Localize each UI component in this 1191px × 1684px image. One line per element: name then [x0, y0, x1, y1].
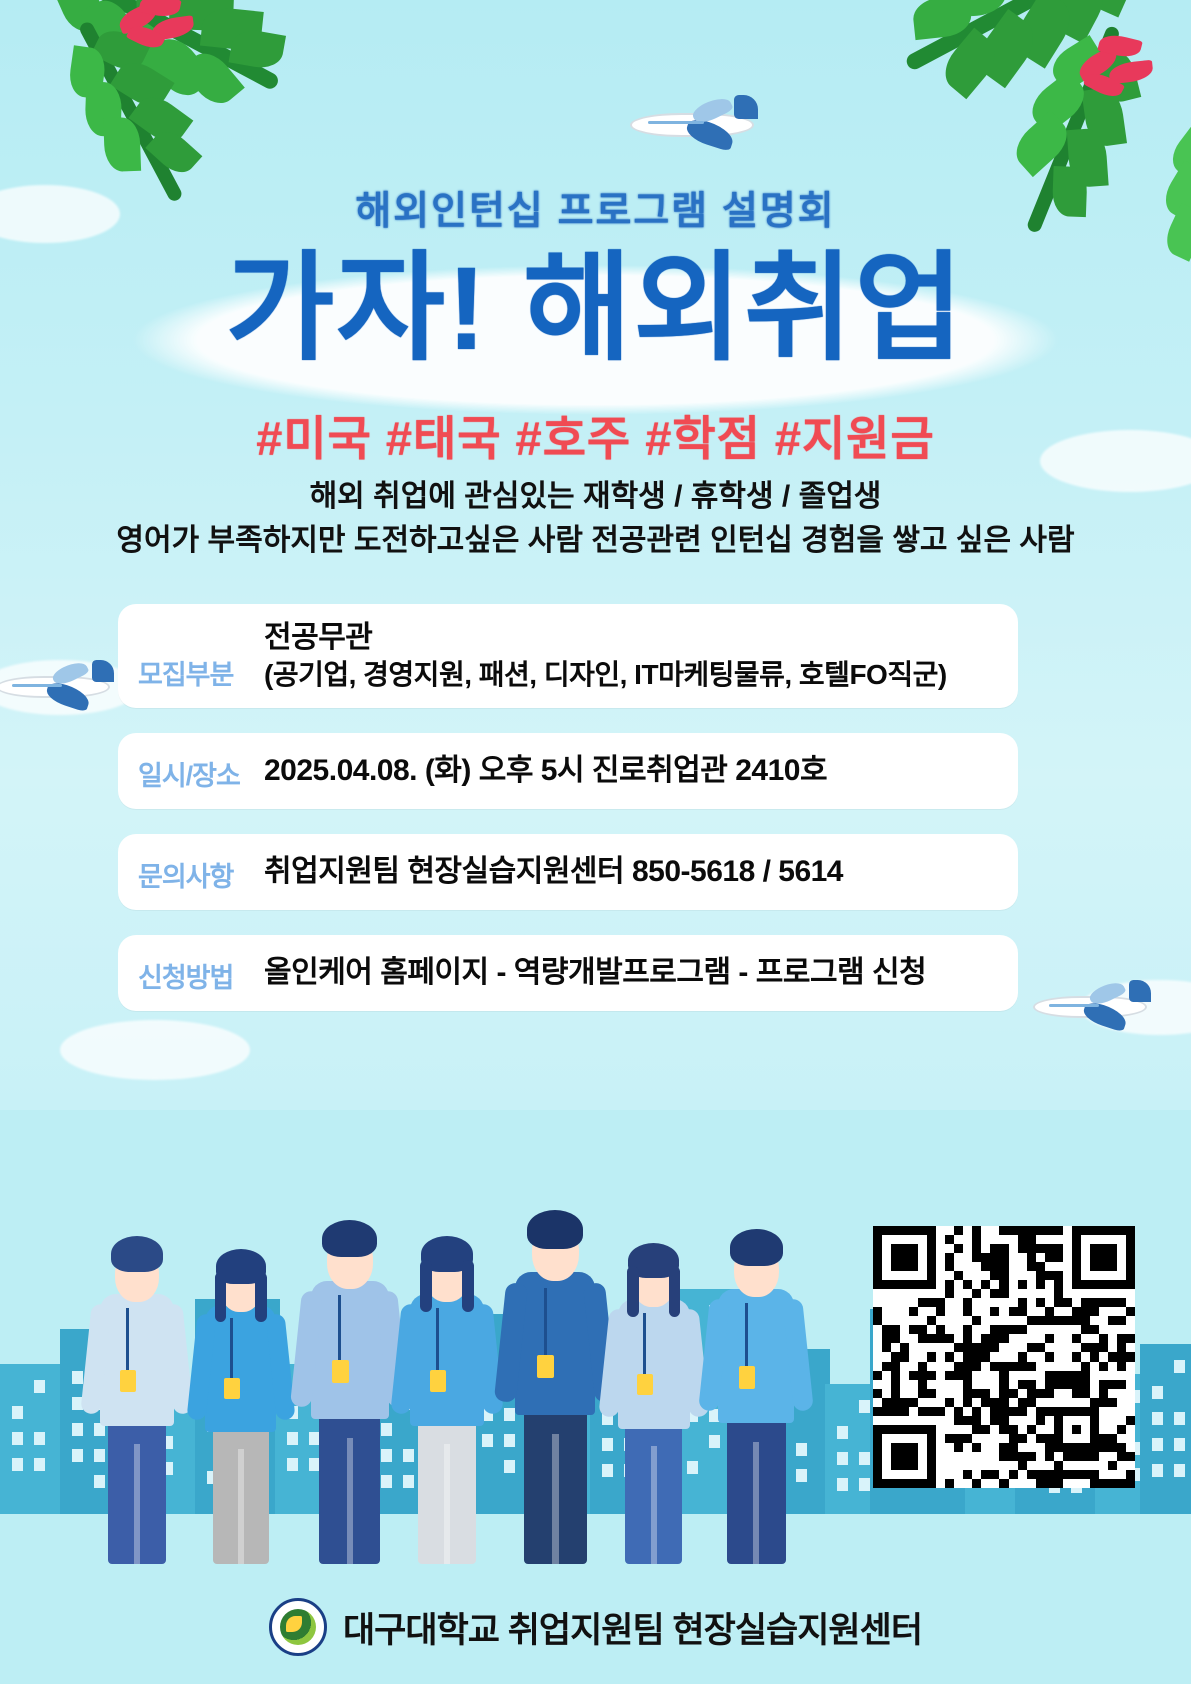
info-card-value: 취업지원팀 현장실습지원센터 850-5618 / 5614 [264, 853, 996, 891]
poster-headline: 가자! 해외취업 [0, 248, 1191, 372]
info-card-label: 문의사항 [138, 855, 264, 894]
person-illustration [188, 1199, 303, 1564]
airplane-right [1033, 980, 1153, 1038]
qr-code[interactable] [873, 1226, 1135, 1488]
info-card-value-line1: 전공무관 [264, 621, 372, 654]
info-card-value: 2025.04.08. (화) 오후 5시 진로취업관 2410호 [264, 752, 996, 790]
poster-hashtags: #미국 #태국 #호주 #학점 #지원금 [0, 400, 1191, 469]
info-card-list: 모집부분 전공무관 (공기업, 경영지원, 패션, 디자인, IT마케팅물류, … [118, 604, 1018, 1036]
info-card-recruit: 모집부분 전공무관 (공기업, 경영지원, 패션, 디자인, IT마케팅물류, … [118, 604, 1018, 708]
info-card-apply: 신청방법 올인케어 홈페이지 - 역량개발프로그램 - 프로그램 신청 [118, 935, 1018, 1011]
footer-organization: 대구대학교 취업지원팀 현장실습지원센터 [343, 1602, 922, 1653]
poster-subtitle: 해외 취업에 관심있는 재학생 / 휴학생 / 졸업생 영어가 부족하지만 도전… [0, 475, 1191, 562]
info-card-label: 신청방법 [138, 956, 264, 995]
airplane-left [0, 660, 116, 718]
info-card-value: 전공무관 (공기업, 경영지원, 패션, 디자인, IT마케팅물류, 호텔FO직… [264, 619, 996, 693]
subtitle-line-1: 해외 취업에 관심있는 재학생 / 휴학생 / 졸업생 [0, 475, 1191, 519]
info-card-value: 올인케어 홈페이지 - 역량개발프로그램 - 프로그램 신청 [264, 954, 996, 992]
airplane-top [630, 95, 760, 157]
footer: 대구대학교 취업지원팀 현장실습지원센터 [0, 1598, 1191, 1656]
info-card-datetime: 일시/장소 2025.04.08. (화) 오후 5시 진로취업관 2410호 [118, 733, 1018, 809]
person-illustration [82, 1184, 202, 1564]
subtitle-line-2: 영어가 부족하지만 도전하고싶은 사람 전공관련 인턴십 경험을 쌓고 싶은 사… [0, 519, 1191, 563]
info-card-value-line2: (공기업, 경영지원, 패션, 디자인, IT마케팅물류, 호텔FO직군) [264, 657, 996, 693]
daegu-university-emblem-icon [269, 1598, 327, 1656]
poster-kicker: 해외인턴십 프로그램 설명회 [0, 180, 1191, 236]
info-card-label: 일시/장소 [138, 754, 264, 793]
info-card-label: 모집부분 [138, 653, 264, 692]
qr-code-wrapper[interactable] [873, 1226, 1135, 1488]
flower-top-left [118, 0, 208, 64]
info-card-contact: 문의사항 취업지원팀 현장실습지원센터 850-5618 / 5614 [118, 834, 1018, 910]
flower-top-right [1073, 36, 1163, 116]
poster-root: 해외인턴십 프로그램 설명회 가자! 해외취업 #미국 #태국 #호주 #학점 … [0, 0, 1191, 1684]
person-illustration [700, 1176, 822, 1564]
person-illustration [392, 1184, 512, 1564]
